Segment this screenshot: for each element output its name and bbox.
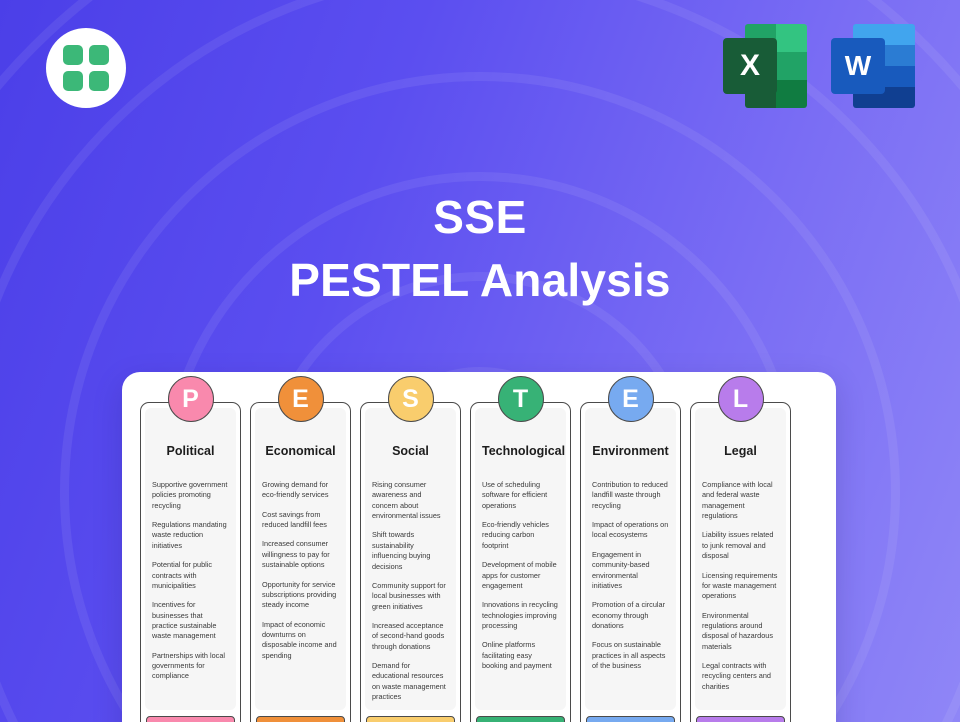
logo-tile-1 (63, 45, 83, 65)
pestel-bullet: Eco-friendly vehicles reducing carbon fo… (482, 520, 559, 551)
pestel-bullet: Demand for educational resources on wast… (372, 661, 449, 702)
pestel-badge-political: P (168, 376, 214, 422)
pestel-bullet: Innovations in recycling technologies im… (482, 600, 559, 631)
pestel-card-footer-bar (256, 716, 345, 722)
pestel-bullet: Partnerships with local governments for … (152, 651, 229, 682)
page-subtitle: PESTEL Analysis (0, 256, 960, 304)
pestel-bullet: Opportunity for service subscriptions pr… (262, 580, 339, 611)
pestel-bullet: Online platforms facilitating easy booki… (482, 640, 559, 671)
pestel-card-title: Legal (702, 444, 779, 458)
word-letter: W (831, 38, 885, 94)
pestel-card-title: Environment (592, 444, 669, 458)
pestel-card-legal[interactable]: LLegalCompliance with local and federal … (690, 402, 791, 722)
pestel-badge-social: S (388, 376, 434, 422)
pestel-card-footer-bar (696, 716, 785, 722)
grid-logo-icon (46, 28, 126, 108)
pestel-card-body: EconomicalGrowing demand for eco-friendl… (255, 408, 346, 710)
pestel-bullet: Increased acceptance of second-hand good… (372, 621, 449, 652)
pestel-bullet-list: Use of scheduling software for efficient… (482, 480, 559, 671)
pestel-bullet: Impact of operations on local ecosystems (592, 520, 669, 541)
pestel-badge-legal: L (718, 376, 764, 422)
pestel-badge-technological: T (498, 376, 544, 422)
pestel-bullet: Rising consumer awareness and concern ab… (372, 480, 449, 521)
pestel-bullet: Cost savings from reduced landfill fees (262, 510, 339, 531)
pestel-card-body: SocialRising consumer awareness and conc… (365, 408, 456, 710)
pestel-card-title: Technological (482, 444, 559, 458)
pestel-card-body: EnvironmentContribution to reduced landf… (585, 408, 676, 710)
pestel-card-title: Political (152, 444, 229, 458)
pestel-bullet-list: Compliance with local and federal waste … (702, 480, 779, 692)
pestel-card-title: Economical (262, 444, 339, 458)
pestel-badge-environment: E (608, 376, 654, 422)
pestel-bullet-list: Contribution to reduced landfill waste t… (592, 480, 669, 671)
pestel-bullet: Regulations mandating waste reduction in… (152, 520, 229, 551)
pestel-bullet-list: Rising consumer awareness and concern ab… (372, 480, 449, 702)
pestel-card-footer-bar (476, 716, 565, 722)
pestel-card-social[interactable]: SSocialRising consumer awareness and con… (360, 402, 461, 722)
pestel-card-footer-bar (146, 716, 235, 722)
logo-grid-shape (63, 45, 109, 91)
pestel-badge-economical: E (278, 376, 324, 422)
title-block: SSE PESTEL Analysis (0, 194, 960, 304)
pestel-bullet: Community support for local businesses w… (372, 581, 449, 612)
pestel-columns: PPoliticalSupportive government policies… (140, 402, 818, 722)
pestel-bullet: Legal contracts with recycling centers a… (702, 661, 779, 692)
pestel-bullet: Compliance with local and federal waste … (702, 480, 779, 521)
excel-icon[interactable]: X (723, 24, 807, 108)
pestel-bullet: Liability issues related to junk removal… (702, 530, 779, 561)
logo-tile-4 (89, 71, 109, 91)
pestel-bullet: Use of scheduling software for efficient… (482, 480, 559, 511)
pestel-card-economical[interactable]: EEconomicalGrowing demand for eco-friend… (250, 402, 351, 722)
excel-letter: X (723, 38, 777, 94)
pestel-bullet-list: Growing demand for eco-friendly services… (262, 480, 339, 661)
pestel-bullet: Promotion of a circular economy through … (592, 600, 669, 631)
slide-canvas: X W SSE PESTEL Analysis PPoliticalSuppor… (0, 0, 960, 722)
pestel-bullet: Engagement in community-based environmen… (592, 550, 669, 591)
logo-tile-3 (63, 71, 83, 91)
pestel-bullet-list: Supportive government policies promoting… (152, 480, 229, 682)
pestel-card-body: LegalCompliance with local and federal w… (695, 408, 786, 710)
pestel-bullet: Licensing requirements for waste managem… (702, 571, 779, 602)
pestel-bullet: Impact of economic downturns on disposab… (262, 620, 339, 661)
pestel-card-footer-bar (366, 716, 455, 722)
word-icon[interactable]: W (831, 24, 915, 108)
page-title: SSE (0, 194, 960, 240)
pestel-board: PPoliticalSupportive government policies… (122, 372, 836, 722)
pestel-card-body: TechnologicalUse of scheduling software … (475, 408, 566, 710)
pestel-card-environment[interactable]: EEnvironmentContribution to reduced land… (580, 402, 681, 722)
office-app-icons: X W (723, 24, 915, 108)
pestel-bullet: Contribution to reduced landfill waste t… (592, 480, 669, 511)
pestel-card-body: PoliticalSupportive government policies … (145, 408, 236, 710)
pestel-bullet: Supportive government policies promoting… (152, 480, 229, 511)
pestel-bullet: Environmental regulations around disposa… (702, 611, 779, 652)
pestel-bullet: Increased consumer willingness to pay fo… (262, 539, 339, 570)
pestel-card-technological[interactable]: TTechnologicalUse of scheduling software… (470, 402, 571, 722)
pestel-card-title: Social (372, 444, 449, 458)
pestel-bullet: Focus on sustainable practices in all as… (592, 640, 669, 671)
pestel-bullet: Incentives for businesses that practice … (152, 600, 229, 641)
pestel-card-footer-bar (586, 716, 675, 722)
pestel-card-political[interactable]: PPoliticalSupportive government policies… (140, 402, 241, 722)
pestel-bullet: Potential for public contracts with muni… (152, 560, 229, 591)
logo-tile-2 (89, 45, 109, 65)
pestel-bullet: Shift towards sustainability influencing… (372, 530, 449, 571)
pestel-bullet: Growing demand for eco-friendly services (262, 480, 339, 501)
pestel-bullet: Development of mobile apps for customer … (482, 560, 559, 591)
